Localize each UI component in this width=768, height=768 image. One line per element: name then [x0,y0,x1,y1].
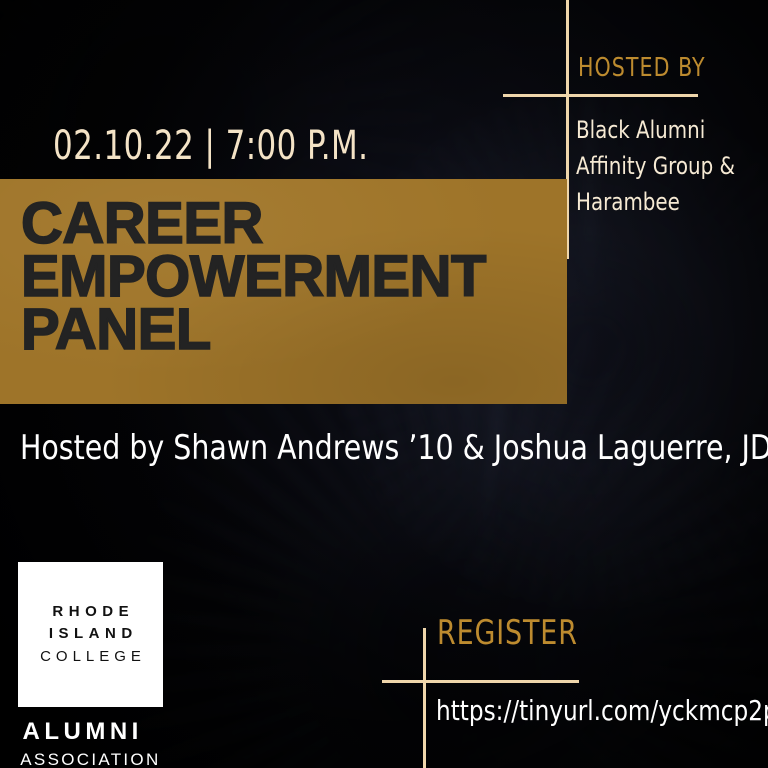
logo-association-text: ASSOCIATION [18,749,163,768]
hosted-by-org-line: Black Alumni [576,112,746,148]
logo-alumni-text: ALUMNI [18,715,163,749]
rhode-island-college-alumni-logo: RHODE ISLAND COLLEGE ALUMNI ASSOCIATION [18,562,163,768]
hosted-by-label: HOSTED BY [578,53,706,83]
hosted-by-org-line: Harambee [576,184,746,220]
logo-line-college: COLLEGE [35,645,146,668]
event-datetime: 02.10.22 | 7:00 P.M. [53,124,368,168]
logo-line-rhode: RHODE [47,601,134,623]
hosted-by-organizations: Black Alumni Affinity Group & Harambee [576,112,746,220]
register-label: REGISTER [437,613,578,653]
bottom-vertical-rule [423,628,426,768]
hosts-line: Hosted by Shawn Andrews ’10 & Joshua Lag… [20,428,768,468]
title-band: CAREER EMPOWERMENT PANEL [0,179,567,404]
rhode-island-college-logo-mark: RHODE ISLAND COLLEGE [18,562,163,707]
top-horizontal-rule [503,94,698,97]
event-poster: 02.10.22 | 7:00 P.M. CAREER EMPOWERMENT … [0,0,768,768]
event-title-line-1: CAREER [21,197,486,250]
logo-line-island: ISLAND [43,623,137,645]
event-title-line-2: EMPOWERMENT [21,250,486,303]
hosted-by-org-line: Affinity Group & [576,148,746,184]
event-title: CAREER EMPOWERMENT PANEL [21,197,486,356]
register-link[interactable]: https://tinyurl.com/yckmcp2p [436,694,768,727]
bottom-horizontal-rule [382,680,579,683]
event-title-line-3: PANEL [21,303,486,356]
